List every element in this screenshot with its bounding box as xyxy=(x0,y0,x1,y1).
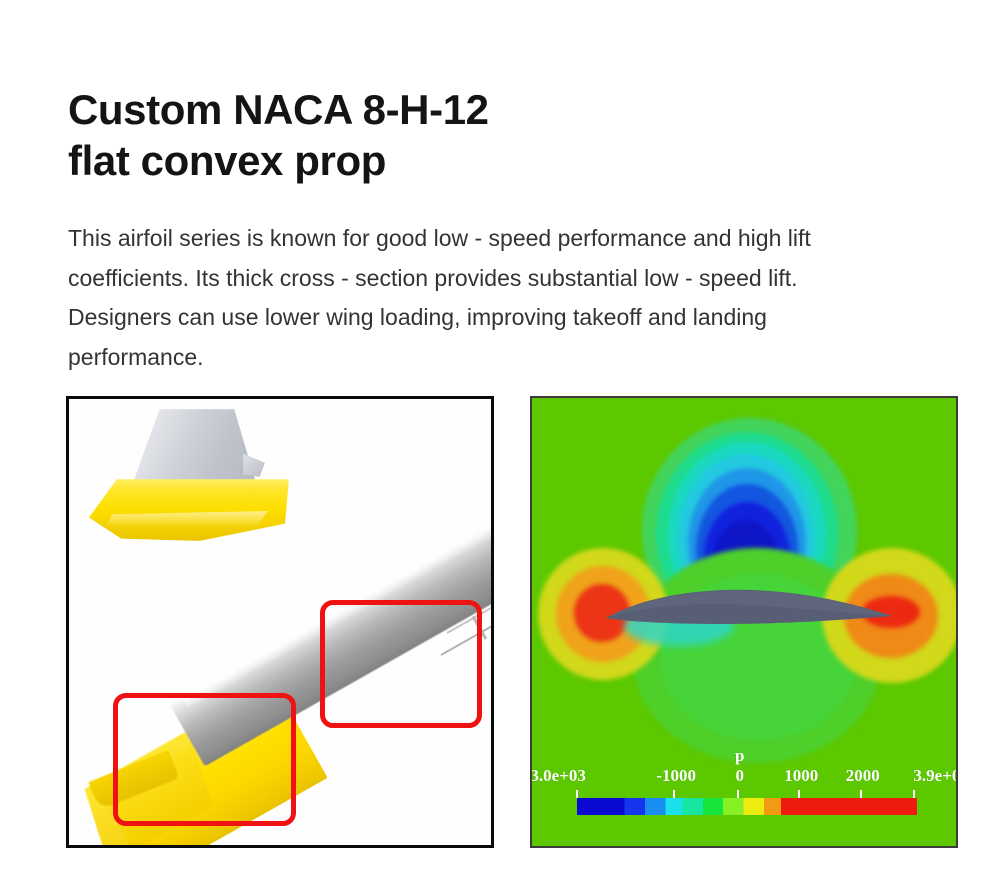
colorbar-tick-mark-5 xyxy=(913,790,915,798)
colorbar-tick-label-5: 3.9e+03 xyxy=(913,766,958,786)
annotation-box-shaft xyxy=(320,600,482,728)
colorbar-tick-mark-0 xyxy=(576,790,578,798)
airfoil-cross-section xyxy=(604,586,896,636)
photo-stage xyxy=(69,399,491,845)
colorbar-gradient xyxy=(577,798,917,815)
colorbar-tick-mark-4 xyxy=(860,790,862,798)
colorbar-tick-label-2: 0 xyxy=(736,766,745,786)
colorbar-tick-marks xyxy=(532,790,956,798)
colorbar-variable-label: p xyxy=(735,746,744,766)
colorbar-tick-mark-2 xyxy=(737,790,739,798)
colorbar-tick-label-3: 1000 xyxy=(784,766,818,786)
annotation-box-blade xyxy=(113,693,296,826)
blade-tip-inset-photo xyxy=(83,407,301,545)
colorbar-tick-labels: -3.0e+03 -1000 0 1000 2000 3.9e+03 xyxy=(532,766,956,788)
colorbar-tick-mark-3 xyxy=(798,790,800,798)
airfoil-shape-icon xyxy=(604,586,896,636)
pressure-colorbar-legend: p -3.0e+03 -1000 0 1000 2000 3.9e+03 xyxy=(532,744,956,828)
cfd-pressure-field: p -3.0e+03 -1000 0 1000 2000 3.9e+03 xyxy=(532,398,956,846)
colorbar-tick-label-0: -3.0e+03 xyxy=(530,766,586,786)
cfd-pressure-contour-panel: p -3.0e+03 -1000 0 1000 2000 3.9e+03 xyxy=(530,396,958,848)
description-paragraph: This airfoil series is known for good lo… xyxy=(68,219,903,377)
figure-row: p -3.0e+03 -1000 0 1000 2000 3.9e+03 xyxy=(0,394,1000,854)
page-title: Custom NACA 8-H-12 flat convex prop xyxy=(68,84,768,186)
propeller-photo-panel xyxy=(66,396,494,848)
colorbar-tick-label-1: -1000 xyxy=(656,766,696,786)
colorbar-tick-label-4: 2000 xyxy=(846,766,880,786)
colorbar-tick-mark-1 xyxy=(673,790,675,798)
